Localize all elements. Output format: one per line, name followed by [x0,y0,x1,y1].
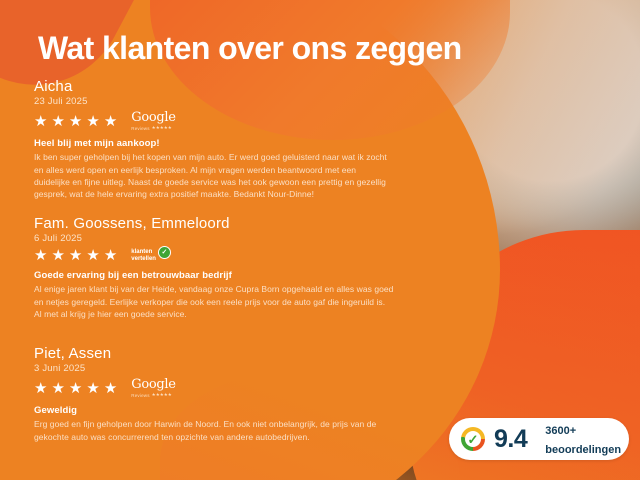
review-meta-row: ★ ★ ★ ★ ★ Google Reviews ★★★★★ [34,378,414,398]
review-body: Erg goed en fijn geholpen door Harwin de… [34,418,394,443]
star-icon: ★ [69,114,82,129]
google-reviews-logo: Google Reviews ★★★★★ [131,111,175,131]
check-glyph: ✓ [159,247,170,258]
google-mini-stars-icon: ★★★★★ [152,125,172,131]
review-headline: Heel blij met mijn aankoop! [34,138,414,149]
review-headline: Geweldig [34,405,414,416]
badge-check-glyph: ✓ [461,427,485,451]
star-icon: ★ [104,381,117,396]
google-reviews-sublabel: Reviews ★★★★★ [131,392,172,398]
klantenvertellen-wordmark: klanten vertellen [131,249,156,263]
google-reviews-text: Reviews [131,126,149,131]
review-date: 6 Juli 2025 [34,233,414,244]
star-icon: ★ [104,248,117,263]
page-title: Wat klanten over ons zeggen [38,30,462,67]
review-date: 3 Juni 2025 [34,363,414,374]
google-wordmark: Google [131,378,175,391]
klantenvertellen-logo: klanten vertellen ✓ [131,249,171,263]
star-icon: ★ [86,381,99,396]
review-card: Fam. Goossens, Emmeloord 6 Juli 2025 ★ ★… [34,215,414,320]
star-icon: ★ [34,248,47,263]
klantenvertellen-line2: vertellen [131,256,156,262]
star-icon: ★ [86,114,99,129]
google-reviews-text: Reviews [131,393,149,398]
star-icon: ★ [51,248,64,263]
klantenvertellen-shield-icon: ✓ [461,427,485,451]
review-author-name: Fam. Goossens, Emmeloord [34,215,414,232]
star-icon: ★ [104,114,117,129]
rating-badge[interactable]: ✓ 9.4 3600+ beoordelingen [449,418,629,460]
star-icon: ★ [34,114,47,129]
review-date: 23 Juli 2025 [34,96,414,107]
star-icon: ★ [86,248,99,263]
star-rating: ★ ★ ★ ★ ★ [34,114,117,129]
star-icon: ★ [69,381,82,396]
review-card: Aicha 23 Juli 2025 ★ ★ ★ ★ ★ Google Revi… [34,78,414,201]
review-card: Piet, Assen 3 Juni 2025 ★ ★ ★ ★ ★ Google… [34,345,414,443]
star-icon: ★ [34,381,47,396]
google-reviews-logo: Google Reviews ★★★★★ [131,378,175,398]
review-meta-row: ★ ★ ★ ★ ★ Google Reviews ★★★★★ [34,111,414,131]
star-icon: ★ [69,248,82,263]
review-author-name: Piet, Assen [34,345,414,362]
rating-count-label: beoordelingen [545,444,621,456]
rating-count: 3600+ [545,425,576,437]
star-rating: ★ ★ ★ ★ ★ [34,381,117,396]
star-rating: ★ ★ ★ ★ ★ [34,248,117,263]
review-body: Al enige jaren klant bij van der Heide, … [34,283,394,320]
rating-score: 9.4 [494,427,527,452]
review-body: Ik ben super geholpen bij het kopen van … [34,151,394,200]
review-meta-row: ★ ★ ★ ★ ★ klanten vertellen ✓ [34,248,414,263]
rating-text-group: 3600+ beoordelingen [545,420,621,458]
google-mini-stars-icon: ★★★★★ [152,392,172,398]
review-author-name: Aicha [34,78,414,95]
klantenvertellen-check-icon: ✓ [158,246,171,259]
google-reviews-sublabel: Reviews ★★★★★ [131,125,172,131]
review-headline: Goede ervaring bij een betrouwbaar bedri… [34,270,414,281]
star-icon: ★ [51,114,64,129]
star-icon: ★ [51,381,64,396]
google-wordmark: Google [131,111,175,124]
klantenvertellen-line1: klanten [131,249,152,255]
